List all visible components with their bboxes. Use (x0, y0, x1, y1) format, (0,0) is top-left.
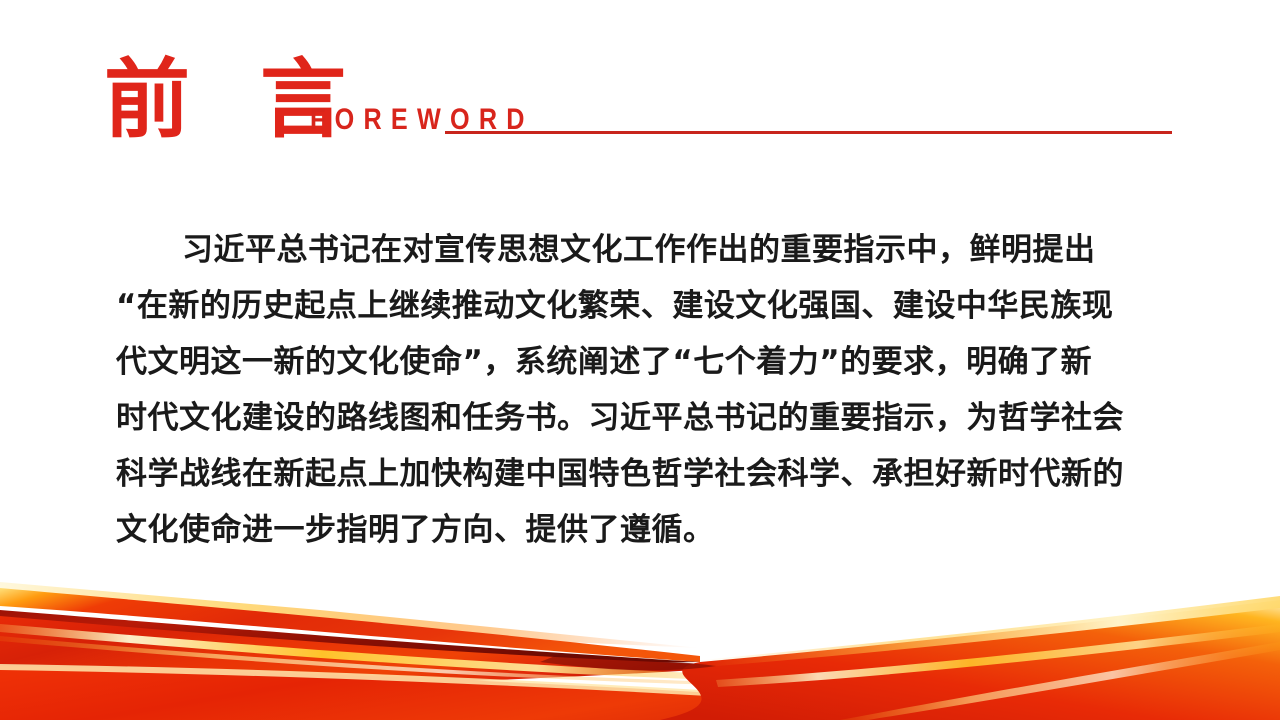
red-silk-wave-ribbon-icon (0, 570, 1280, 720)
body-line: 时代文化建设的路线图和任务书。习近平总书记的重要指示，为哲学社会 (116, 390, 1166, 446)
body-line: “在新的历史起点上继续推动文化繁荣、建设文化强国、建设中华民族现 (116, 278, 1166, 334)
body-line: 代文明这一新的文化使命”，系统阐述了“七个着力”的要求，明确了新 (116, 334, 1166, 390)
body-line: 习近平总书记在对宣传思想文化工作作出的重要指示中，鲜明提出 (116, 222, 1166, 278)
slide-title-block: 前 言 FOREWORD (104, 52, 1184, 148)
slide-canvas: 前 言 FOREWORD 习近平总书记在对宣传思想文化工作作出的重要指示中，鲜明… (0, 0, 1280, 720)
body-line: 文化使命进一步指明了方向、提供了遵循。 (116, 502, 1166, 558)
body-paragraph: 习近平总书记在对宣传思想文化工作作出的重要指示中，鲜明提出 “在新的历史起点上继… (116, 222, 1166, 558)
title-divider-rule (445, 131, 1172, 134)
body-line: 科学战线在新起点上加快构建中国特色哲学社会科学、承担好新时代新的 (116, 446, 1166, 502)
